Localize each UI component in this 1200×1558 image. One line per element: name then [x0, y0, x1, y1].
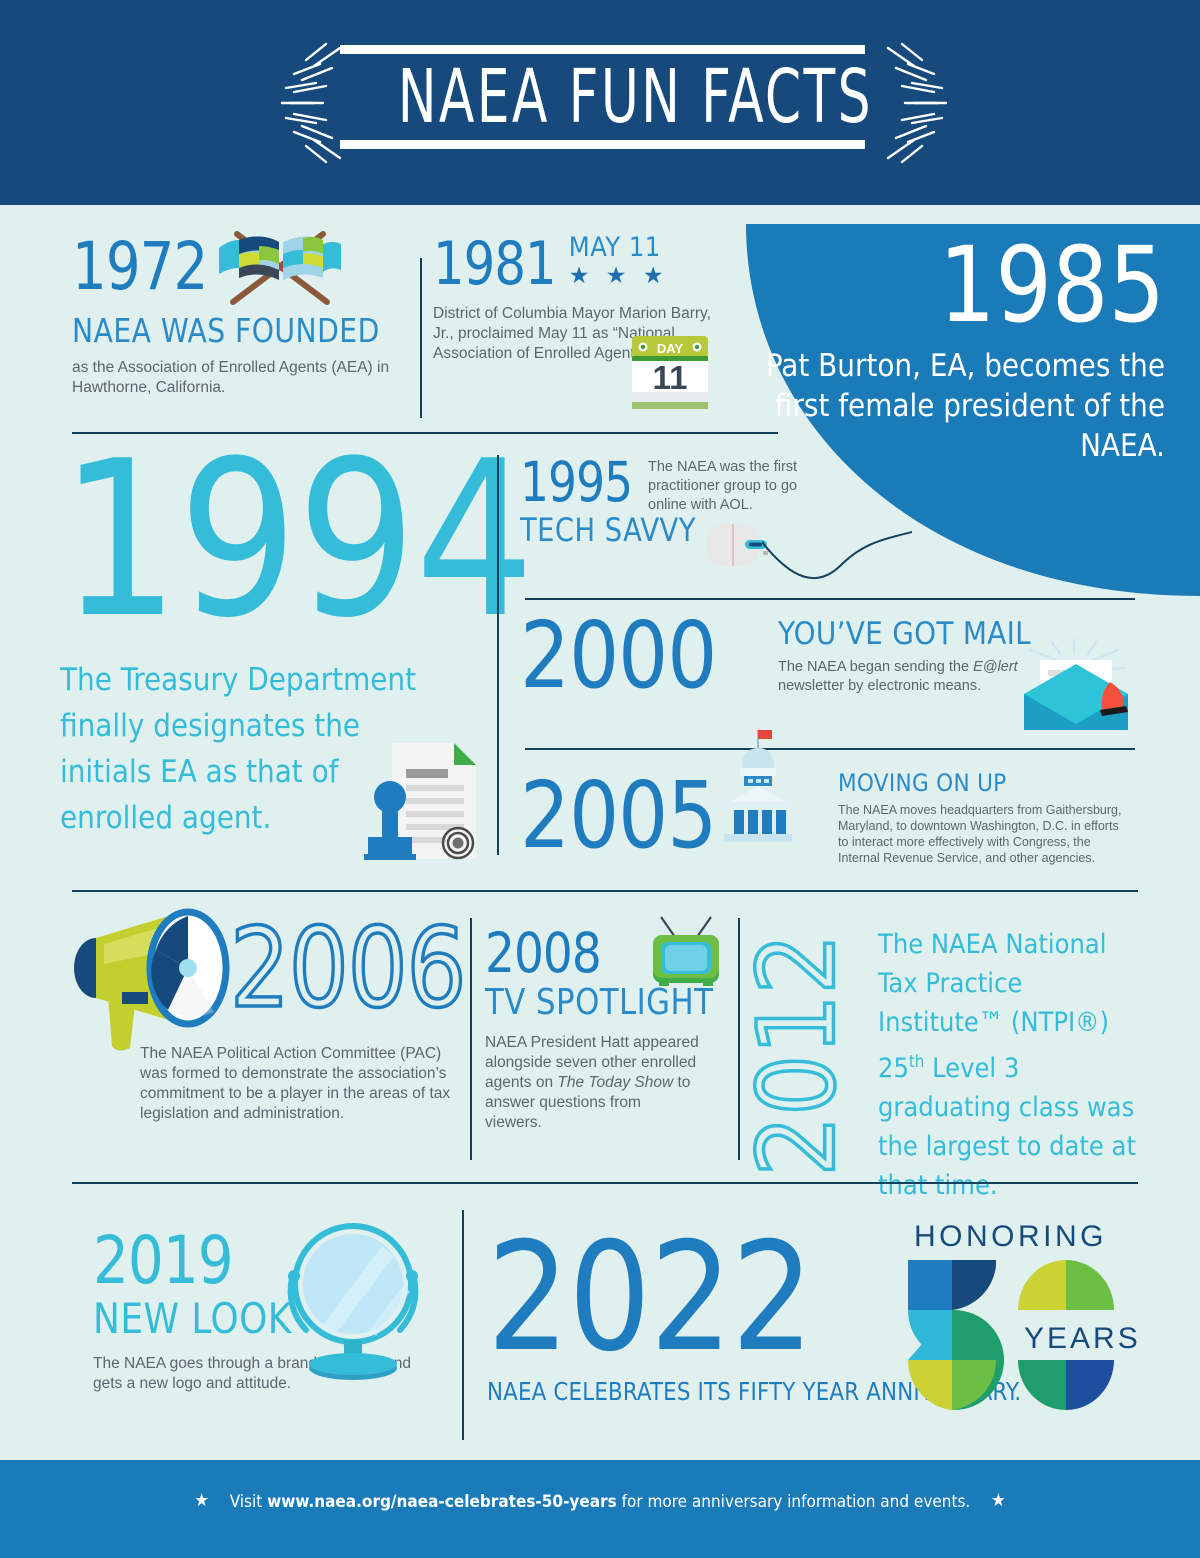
calendar-day: 11	[653, 359, 688, 396]
fact-2022-heading: NAEA CELEBRATES ITS FIFTY YEAR ANNIVERSA…	[487, 1378, 886, 1406]
header-top-bar	[340, 45, 865, 54]
page-title: NAEA FUN FACTS	[398, 54, 808, 140]
envelope-icon	[1012, 638, 1140, 734]
fact-2012-year: 2012	[744, 934, 850, 1177]
logo-digit-5	[908, 1260, 1004, 1410]
header-title-frame: NAEA FUN FACTS	[340, 45, 865, 165]
footer-text: ★ Visit www.naea.org/naea-celebrates-50-…	[0, 1490, 1200, 1513]
fact-2006-body: The NAEA Political Action Committee (PAC…	[140, 1044, 460, 1124]
document-stamp-icon	[362, 735, 482, 865]
divider-1995-2000	[525, 598, 1135, 600]
footer-bar: ★ Visit www.naea.org/naea-celebrates-50-…	[0, 1460, 1200, 1558]
fact-2000: 2000 YOU’VE GOT MAIL The NAEA began send…	[520, 610, 1040, 702]
header-bottom-bar	[340, 140, 865, 149]
fact-2006-year: 2006	[230, 912, 460, 1024]
logo-years-label: YEARS	[1024, 1322, 1141, 1355]
fact-2000-heading: YOU’VE GOT MAIL	[778, 618, 1048, 651]
fact-1972-body: as the Association of Enrolled Agents (A…	[72, 358, 392, 398]
sunburst-rays-right-icon	[880, 38, 1000, 168]
divider-section-2	[72, 890, 1138, 892]
fact-2005-body: The NAEA moves headquarters from Gaither…	[838, 802, 1128, 866]
star-left-icon: ★	[194, 1490, 209, 1511]
fact-2008-body: NAEA President Hatt appeared alongside s…	[485, 1033, 700, 1133]
logo-honoring-label: HONORING	[914, 1220, 1107, 1253]
footer-tail: for more anniversary information and eve…	[617, 1492, 971, 1512]
fact-2012: The NAEA National Tax Practice Institute…	[878, 925, 1153, 1205]
header-banner: NAEA FUN FACTS	[0, 0, 1200, 205]
fact-1985: 1985 Pat Burton, EA, becomes the first f…	[745, 230, 1165, 466]
fact-1994-year: 1994	[60, 445, 477, 635]
star-right-icon: ★	[991, 1490, 1006, 1511]
fact-2005-year: 2005	[520, 770, 716, 862]
fact-2000-body: The NAEA began sending the E@lert newsle…	[778, 658, 1048, 696]
fact-2006: 2006 The NAEA Political Action Committee…	[72, 912, 472, 1024]
fact-2005: 2005 MOVING ON UP The NAEA moves headqua…	[520, 770, 1100, 862]
fact-2005-heading: MOVING ON UP	[838, 770, 1128, 796]
divider-1972-1981	[420, 258, 422, 418]
fact-2012-body: The NAEA National Tax Practice Institute…	[878, 925, 1153, 1205]
fact-2022-year: 2022	[487, 1222, 890, 1374]
television-icon	[645, 915, 727, 991]
divider-1994-right	[497, 455, 499, 855]
divider-section-3	[72, 1182, 1138, 1184]
fact-1985-body: Pat Burton, EA, becomes the first female…	[745, 346, 1165, 466]
three-stars-icon: ★ ★ ★	[569, 263, 669, 287]
fact-2000-year: 2000	[520, 610, 716, 702]
infographic-page: NAEA FUN FACTS 1985 Pat Burton, EA, beco…	[0, 0, 1200, 1558]
fact-1981-month-day: MAY 11	[569, 232, 661, 263]
fact-1995-year: 1995	[520, 455, 632, 510]
vanity-mirror-icon	[278, 1218, 428, 1386]
capitol-building-icon	[712, 728, 804, 846]
divider-2006-2008	[470, 918, 472, 1160]
fact-1972-heading: NAEA WAS FOUNDED	[72, 312, 395, 350]
honoring-50-years-logo: HONORING YEARS	[900, 1218, 1150, 1428]
sunburst-rays-left-icon	[228, 38, 348, 168]
crossed-flags-icon	[205, 228, 355, 308]
fact-1985-year: 1985	[766, 230, 1165, 340]
fact-1981-year: 1981	[433, 234, 556, 294]
fact-2022: 2022 NAEA CELEBRATES ITS FIFTY YEAR ANNI…	[487, 1222, 907, 1406]
calendar-icon: DAY 11	[629, 332, 711, 416]
divider-2019-2022	[462, 1210, 464, 1440]
footer-url[interactable]: www.naea.org/naea-celebrates-50-years	[267, 1492, 617, 1512]
fact-1995-body: The NAEA was the first practitioner grou…	[648, 458, 823, 515]
divider-2000-2005	[525, 748, 1135, 750]
calendar-label: DAY	[657, 341, 684, 356]
footer-visit-label: Visit	[230, 1492, 267, 1512]
